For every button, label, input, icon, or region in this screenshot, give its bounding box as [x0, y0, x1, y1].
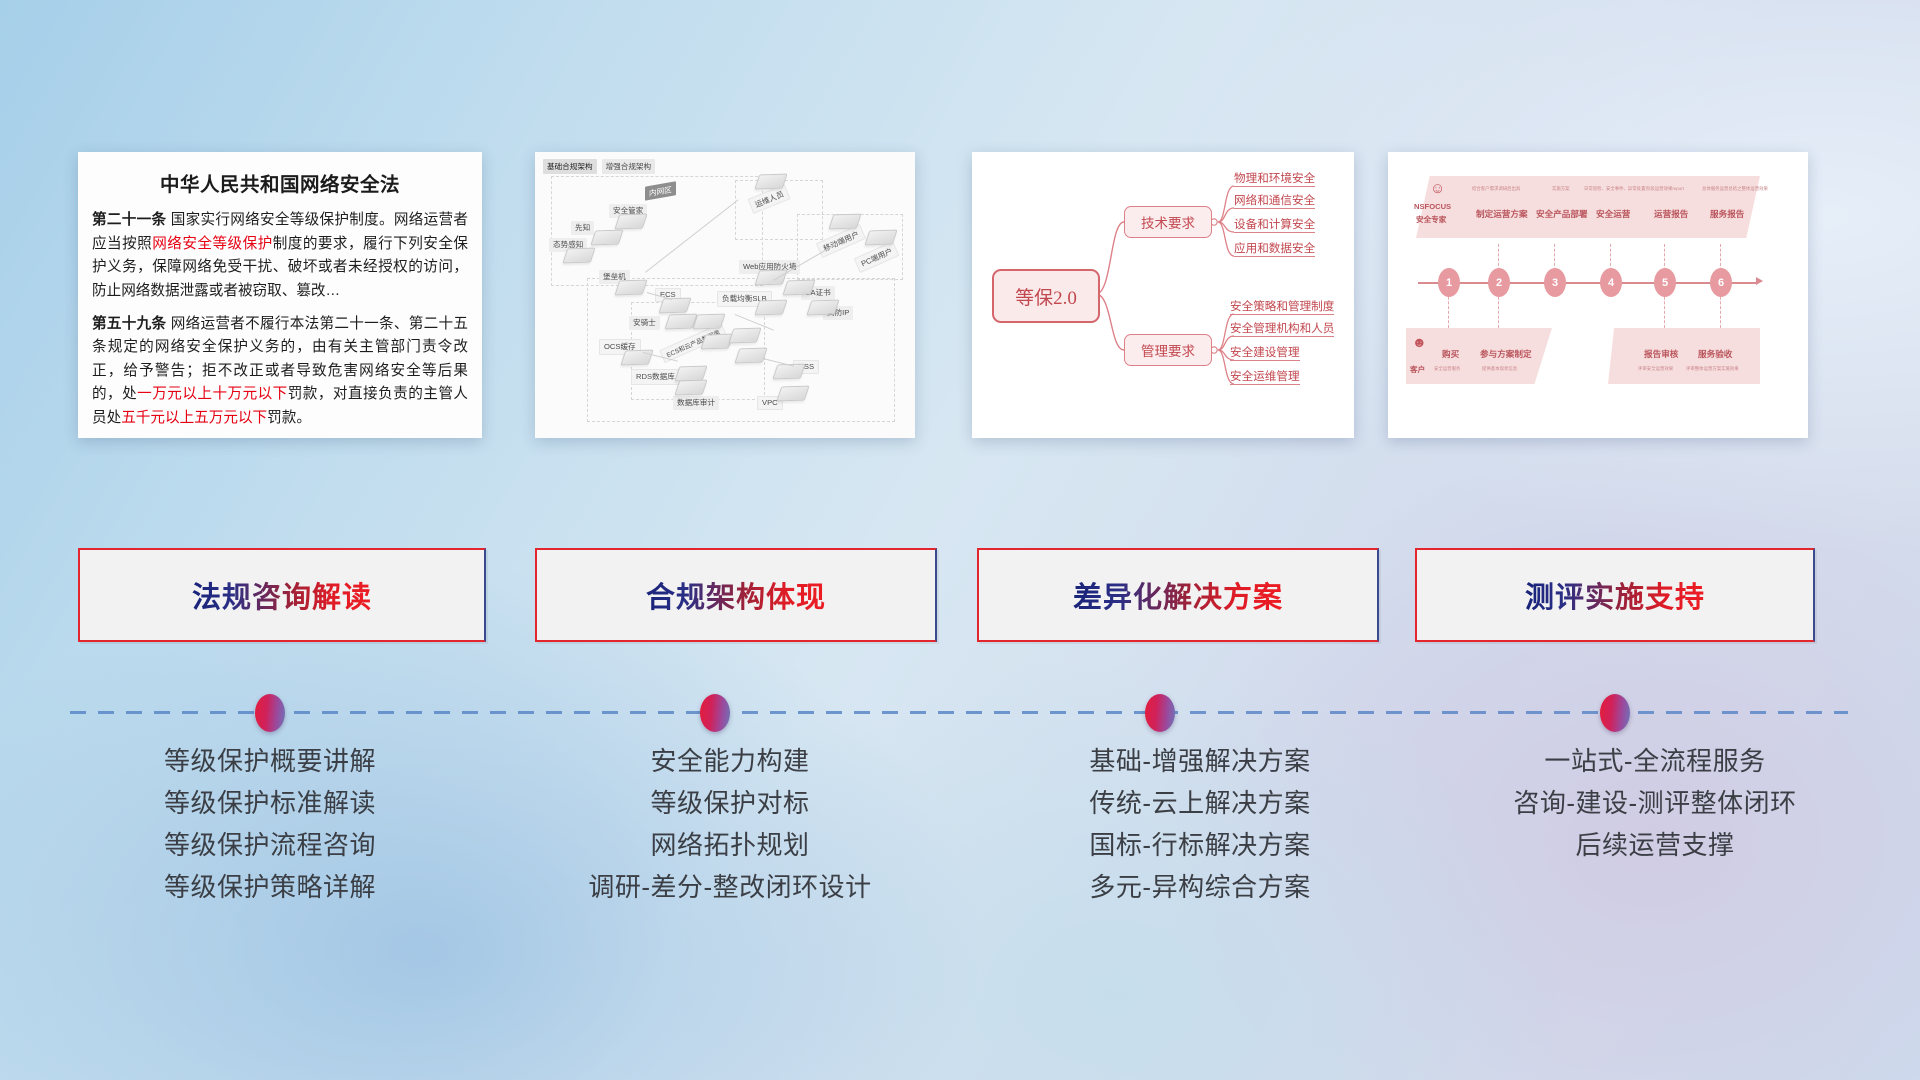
server-icon-slb	[757, 300, 785, 315]
node-ops-staff: 运维人员	[749, 188, 789, 207]
mindmap-leaf-mgmt-4: 安全运维管理	[1230, 370, 1300, 385]
tab-enhanced-architecture[interactable]: 增强合规架构	[602, 159, 656, 174]
server-icon-dbaudit	[677, 380, 705, 395]
server-icon-ddos	[809, 300, 837, 315]
mindmap-branch-management: 管理要求	[1124, 334, 1212, 366]
law-article-21: 第二十一条 国家实行网络安全等级保护制度。网络运营者应当按照网络安全等级保护制度…	[92, 209, 468, 304]
article-59-highlight-1: 一万元以上十万元以下	[137, 386, 288, 402]
server-icon-stack-4	[737, 348, 765, 363]
timeline-tick-5-down	[1664, 292, 1666, 328]
headline-box-4[interactable]: 测评实施支持	[1415, 548, 1815, 642]
timeline-tick-1-down	[1448, 292, 1450, 328]
card-dengbao-mindmap: 等保2.0 技术要求 管理要求 物理和环境安全 网络和通信安全 设备和计算安全 …	[972, 152, 1354, 438]
list-item: 等级保护概要讲解	[60, 740, 480, 782]
timeline-dot-4[interactable]: 4	[1600, 268, 1622, 297]
timeline-dot-6[interactable]: 6	[1710, 268, 1732, 297]
law-title: 中华人民共和国网络安全法	[78, 168, 482, 197]
server-icon-xianzhi	[593, 230, 621, 245]
card-row: 中华人民共和国网络安全法 第二十一条 国家实行网络安全等级保护制度。网络运营者应…	[0, 152, 1920, 442]
node-xianzhi: 先知	[571, 217, 594, 235]
server-icon-butler	[617, 214, 645, 229]
mindmap-leaf-mgmt-1: 安全策略和管理制度	[1230, 300, 1334, 315]
mindmap: 等保2.0 技术要求 管理要求 物理和环境安全 网络和通信安全 设备和计算安全 …	[972, 152, 1354, 438]
server-icon-mobile	[831, 214, 859, 229]
bottom-step-4-main: 服务验收	[1698, 348, 1732, 360]
top-step-5-main: 服务报告	[1710, 208, 1744, 220]
article-59-highlight-2: 五千元以上五万元以下	[121, 410, 267, 426]
top-step-1-sub: 结合客户需求调研后出具	[1472, 186, 1520, 192]
slide-canvas: 中华人民共和国网络安全法 第二十一条 国家实行网络安全等级保护制度。网络运营者应…	[0, 0, 1920, 1080]
timeline-tick-6-down	[1720, 292, 1722, 328]
article-59-label: 第五十九条	[92, 316, 166, 332]
headline-label-2: 合规架构体现	[646, 574, 826, 616]
mindmap-leaf-mgmt-2: 安全管理机构和人员	[1230, 322, 1334, 337]
timeline-dot-5[interactable]: 5	[1654, 268, 1676, 297]
server-icon-situation	[565, 248, 593, 263]
list-item: 后续运营支撑	[1435, 824, 1875, 866]
headline-box-2[interactable]: 合规架构体现	[535, 548, 937, 642]
mindmap-leaf-tech-2: 网络和通信安全	[1234, 194, 1315, 209]
server-icon-stack-3	[731, 328, 759, 343]
mindmap-root: 等保2.0	[992, 269, 1100, 323]
top-step-3-main: 安全运营	[1596, 208, 1630, 220]
list-item: 网络拓扑规划	[500, 824, 960, 866]
list-item: 等级保护标准解读	[60, 782, 480, 824]
timeline-dot-3[interactable]: 3	[1544, 268, 1566, 297]
timeline-node-3[interactable]	[1145, 694, 1175, 732]
server-icon-pc	[867, 230, 895, 245]
mindmap-leaf-tech-4: 应用和数据安全	[1234, 242, 1315, 257]
timeline-node-1[interactable]	[255, 694, 285, 732]
law-body: 第二十一条 国家实行网络安全等级保护制度。网络运营者应当按照网络安全等级保护制度…	[78, 209, 482, 431]
mindmap-leaf-mgmt-3: 安全建设管理	[1230, 346, 1300, 361]
server-icon-vpc	[779, 386, 807, 401]
bottom-step-1-main: 购买	[1442, 348, 1459, 360]
expert-person-icon: ☺	[1430, 180, 1445, 197]
card-service-timeline: ☺ NSFOCUS 安全专家 结合客户需求调研后出具 制定运营方案 实施方案 安…	[1388, 152, 1808, 438]
detail-column-3: 基础-增强解决方案 传统-云上解决方案 国标-行标解决方案 多元-异构综合方案	[980, 740, 1420, 908]
headline-label-4: 测评实施支持	[1525, 574, 1705, 616]
server-icon-waf	[757, 270, 785, 285]
timeline-node-2[interactable]	[700, 694, 730, 732]
server-icon-stack-2	[703, 334, 731, 349]
timeline-arrow-icon	[1756, 277, 1763, 285]
headline-label-1: 法规咨询解读	[192, 574, 372, 616]
expert-label-brand: NSFOCUS	[1414, 202, 1451, 211]
list-item: 基础-增强解决方案	[980, 740, 1420, 782]
top-step-1-main: 制定运营方案	[1476, 208, 1528, 220]
card-cybersecurity-law: 中华人民共和国网络安全法 第二十一条 国家实行网络安全等级保护制度。网络运营者应…	[78, 152, 482, 438]
headline-box-1[interactable]: 法规咨询解读	[78, 548, 486, 642]
list-item: 等级保护对标	[500, 782, 960, 824]
mindmap-leaf-tech-1: 物理和环境安全	[1234, 172, 1315, 187]
list-item: 传统-云上解决方案	[980, 782, 1420, 824]
timeline-axis	[1418, 282, 1758, 284]
bottom-step-4-sub: 评审整体运营方案实施效果	[1686, 366, 1739, 372]
list-item: 多元-异构综合方案	[980, 866, 1420, 908]
headline-row: 法规咨询解读 合规架构体现 差异化解决方案 测评实施支持	[0, 548, 1920, 640]
node-pc-user: PC端用户	[855, 246, 898, 265]
dashed-line	[70, 711, 1848, 714]
headline-label-3: 差异化解决方案	[1073, 574, 1283, 616]
timeline-dot-2[interactable]: 2	[1488, 268, 1510, 297]
node-internal-network: 内网区	[645, 180, 676, 198]
server-icon-anqishi	[667, 314, 695, 329]
list-item: 安全能力构建	[500, 740, 960, 782]
detail-column-1: 等级保护概要讲解 等级保护标准解读 等级保护流程咨询 等级保护策略详解	[60, 740, 480, 908]
top-step-2-main: 安全产品部署	[1536, 208, 1588, 220]
bottom-step-2-main: 参与方案制定	[1480, 348, 1532, 360]
timeline-node-4[interactable]	[1600, 694, 1630, 732]
top-step-4-sub: 阶段运营效果report	[1646, 186, 1684, 192]
server-icon-oss	[775, 364, 803, 379]
node-rds: RDS数据库	[631, 366, 680, 385]
server-icon-stack-1	[695, 314, 723, 329]
bottom-step-1-sub: 安全运营服务	[1434, 366, 1460, 372]
detail-column-4: 一站式-全流程服务 咨询-建设-测评整体闭环 后续运营支撑	[1435, 740, 1875, 866]
server-icon-bastion	[617, 280, 645, 295]
customer-label: 客户	[1410, 364, 1425, 375]
nsfocus-timeline: ☺ NSFOCUS 安全专家 结合客户需求调研后出具 制定运营方案 实施方案 安…	[1388, 152, 1808, 438]
card-compliance-architecture: 基础合规架构 增强合规架构 内网区 安全管家 先知 态势感知 堡垒机	[535, 152, 915, 438]
detail-column-2: 安全能力构建 等级保护对标 网络拓扑规划 调研-差分-整改闭环设计	[500, 740, 960, 908]
bottom-step-2-sub: 提供基本现状信息	[1482, 366, 1517, 372]
server-icon-ops	[757, 174, 785, 189]
expert-label-role: 安全专家	[1416, 214, 1446, 225]
article-59-text-c: 罚款。	[267, 410, 311, 426]
mindmap-branch-technical: 技术要求	[1124, 206, 1212, 238]
timeline-connector	[0, 692, 1920, 732]
mindmap-leaf-tech-3: 设备和计算安全	[1234, 218, 1315, 233]
law-article-59: 第五十九条 网络运营者不履行本法第二十一条、第二十五条规定的网络安全保护义务的，…	[92, 313, 468, 431]
list-item: 等级保护流程咨询	[60, 824, 480, 866]
architecture-tabs: 基础合规架构 增强合规架构	[543, 159, 655, 174]
timeline-band-bottom-right	[1608, 328, 1760, 384]
headline-box-3[interactable]: 差异化解决方案	[977, 548, 1379, 642]
top-step-2-sub: 实施方案	[1552, 186, 1570, 192]
list-item: 等级保护策略详解	[60, 866, 480, 908]
list-item: 调研-差分-整改闭环设计	[500, 866, 960, 908]
detail-columns: 等级保护概要讲解 等级保护标准解读 等级保护流程咨询 等级保护策略详解 安全能力…	[0, 740, 1920, 970]
timeline-tick-2-down	[1498, 292, 1500, 328]
bottom-step-3-sub: 评审安全运营效果	[1638, 366, 1673, 372]
customer-person-icon: ☻	[1412, 334, 1427, 350]
tab-basic-architecture[interactable]: 基础合规架构	[543, 159, 597, 174]
timeline-dot-1[interactable]: 1	[1438, 268, 1460, 297]
list-item: 一站式-全流程服务	[1435, 740, 1875, 782]
list-item: 国标-行标解决方案	[980, 824, 1420, 866]
top-step-3-sub: 日常巡检、安全事件、异常处置	[1584, 186, 1645, 192]
node-anqishi: 安骑士	[629, 312, 660, 330]
article-21-label: 第二十一条	[92, 212, 166, 228]
top-step-5-sub: 总体服务运营总结之整体运营效果	[1702, 186, 1768, 192]
list-item: 咨询-建设-测评整体闭环	[1435, 782, 1875, 824]
server-icon-ca	[785, 280, 813, 295]
architecture-diagram: 基础合规架构 增强合规架构 内网区 安全管家 先知 态势感知 堡垒机	[535, 152, 915, 438]
article-21-highlight: 网络安全等级保护	[152, 236, 272, 252]
top-step-4-main: 运营报告	[1654, 208, 1688, 220]
bottom-step-3-main: 报告审核	[1644, 348, 1678, 360]
server-icon-ecs	[661, 298, 689, 313]
